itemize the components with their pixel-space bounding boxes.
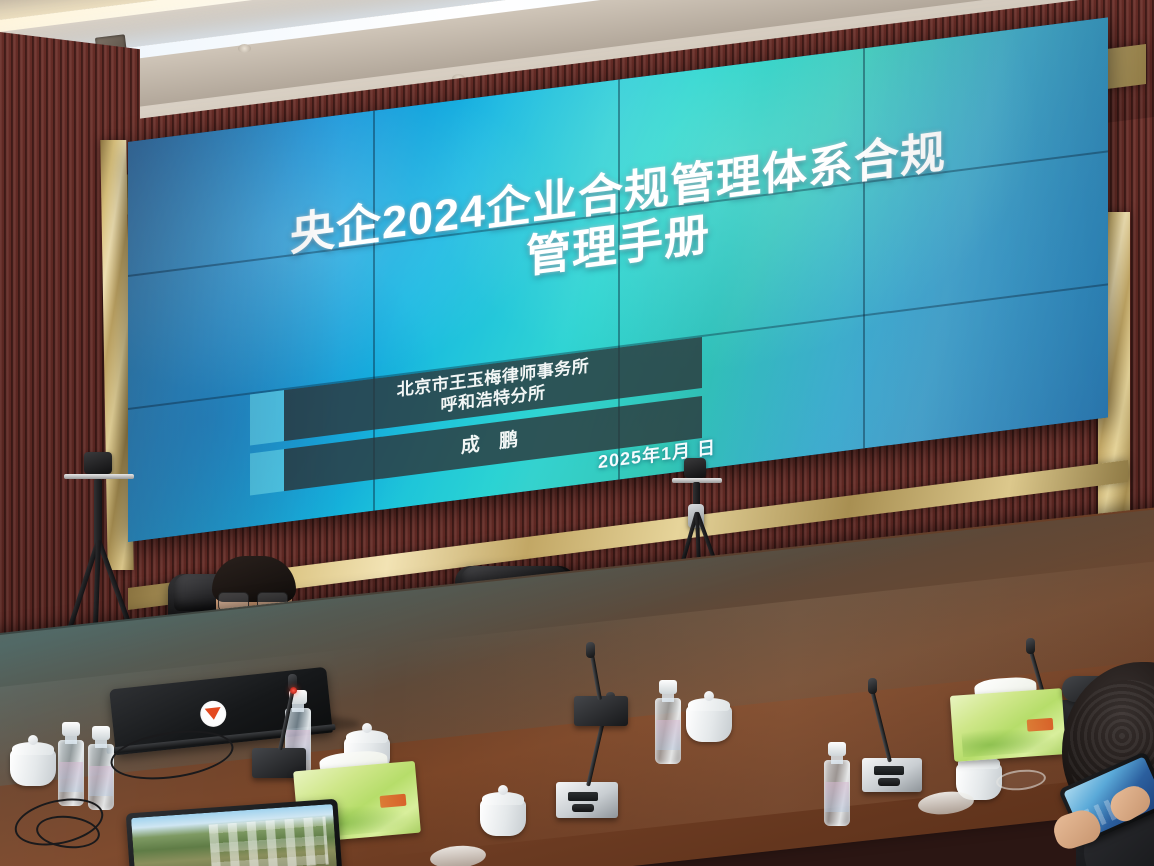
bottle-cap	[828, 742, 846, 756]
bottle-label	[59, 762, 83, 792]
microphone-base[interactable]	[862, 758, 922, 792]
bottle-label	[656, 720, 680, 750]
teacup-4	[686, 688, 732, 742]
bottle-label	[825, 782, 849, 812]
microphone-capsule	[586, 642, 595, 658]
tripod-column-left	[94, 479, 102, 545]
bottle-cap	[659, 680, 677, 694]
camera-body-center	[684, 458, 706, 478]
teacup-knob	[498, 785, 508, 795]
microphone-capsule	[868, 678, 877, 694]
teacup-3	[480, 782, 526, 836]
water-bottle-2	[88, 726, 114, 810]
conference-microphone-2[interactable]	[556, 782, 618, 818]
laptop-desktop-icons[interactable]	[208, 816, 328, 866]
ceiling-downlight-1	[238, 44, 251, 53]
water-bottle-4	[655, 680, 681, 764]
microphone-led-indicator	[290, 687, 297, 694]
microphone-display	[874, 766, 904, 775]
conference-microphone-4[interactable]	[862, 758, 922, 792]
person-phone-user	[1010, 662, 1154, 866]
bottle-cap	[62, 722, 80, 736]
teacup-body	[480, 800, 526, 836]
conference-microphone-3[interactable]	[574, 696, 630, 726]
water-bottle-1	[58, 722, 84, 806]
microphone-base[interactable]	[574, 696, 628, 726]
bottle-label	[89, 766, 113, 796]
water-bottle-5	[824, 742, 850, 826]
tissue-box-logo-icon	[379, 793, 406, 807]
camera-body-left	[84, 452, 112, 474]
teacup-knob	[362, 723, 372, 733]
microphone-display	[568, 792, 598, 801]
teacup-knob	[28, 735, 38, 745]
teacup-body	[686, 706, 732, 742]
bottle-cap	[92, 726, 110, 740]
teacup-body	[10, 750, 56, 786]
microphone-capsule	[1026, 638, 1035, 654]
microphone-talk-button[interactable]	[878, 778, 900, 786]
teacup-knob	[704, 691, 714, 701]
teacup-1	[10, 732, 56, 786]
conference-room-photo: 央企2024企业合规管理体系合规 管理手册 北京市王玉梅律师事务所 呼和浩特分所…	[0, 0, 1154, 866]
microphone-talk-button[interactable]	[572, 804, 594, 812]
